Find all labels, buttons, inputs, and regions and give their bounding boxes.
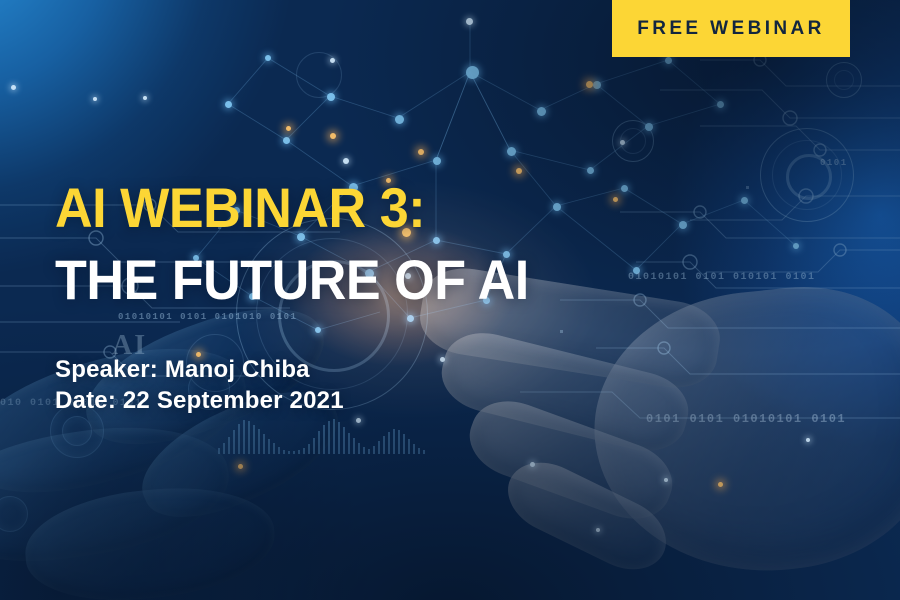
speaker-line: Speaker: Manoj Chiba <box>55 354 344 385</box>
waveform-graphic <box>218 418 425 454</box>
title-line-1: AI WEBINAR 3: <box>55 172 529 244</box>
page-title: AI WEBINAR 3: THE FUTURE OF AI <box>55 172 564 316</box>
free-webinar-badge: FREE WEBINAR <box>612 0 850 57</box>
badge-label: FREE WEBINAR <box>637 18 825 40</box>
binary-overlay-2: 01010101 0101 010101 0101 <box>628 272 816 283</box>
binary-overlay-3: 0101 0101 01010101 0101 <box>646 412 846 426</box>
title-line-2: THE FUTURE OF AI <box>55 244 529 316</box>
date-line: Date: 22 September 2021 <box>55 385 344 416</box>
binary-overlay-5: 0101 <box>820 158 848 168</box>
webinar-poster: 01010101 0101 0101010 0101 01010101 0101… <box>0 0 900 600</box>
event-details: Speaker: Manoj Chiba Date: 22 September … <box>55 354 344 416</box>
